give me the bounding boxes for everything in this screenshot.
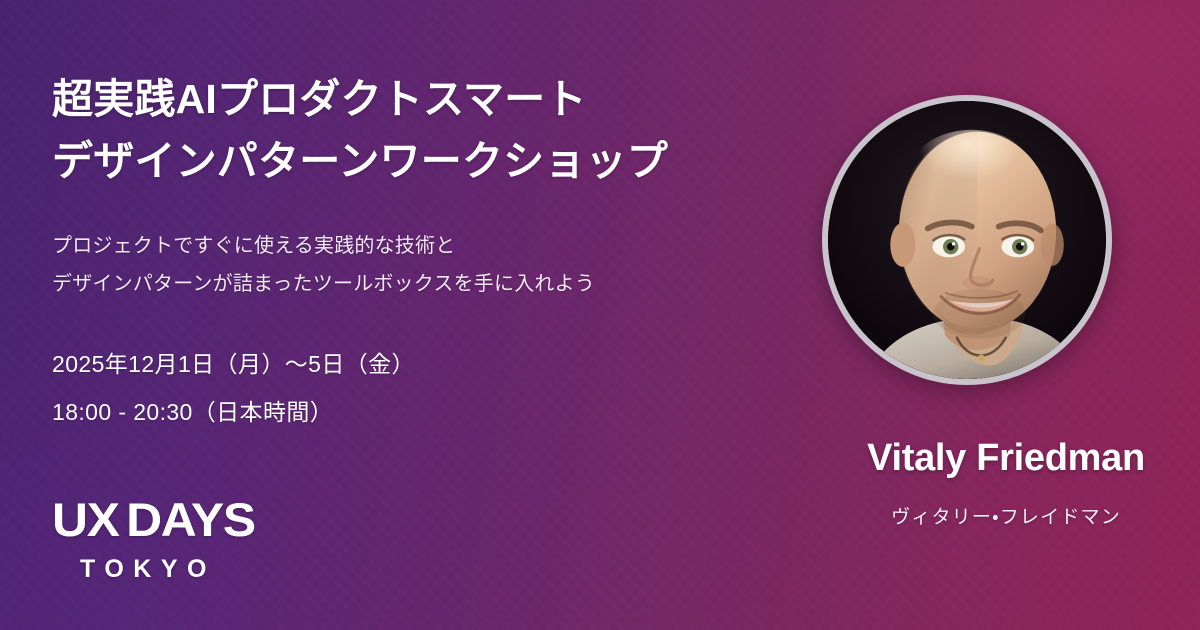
page-title: 超実践AIプロダクトスマート デザインパターンワークショップ: [52, 68, 792, 193]
event-banner: 超実践AIプロダクトスマート デザインパターンワークショップ プロジェクトですぐ…: [0, 0, 1200, 630]
logo-wordmark: UXDAYS: [52, 496, 328, 543]
event-date: 2025年12月1日（月）〜5日（金）: [52, 340, 415, 388]
event-time: 18:00 - 20:30（日本時間）: [52, 388, 415, 436]
page-subtitle-line-1: プロジェクトですぐに使える実践的な技術と: [52, 228, 772, 266]
page-title-line-1: 超実践AIプロダクトスマート: [52, 68, 792, 130]
ux-days-tokyo-logo: UXDAYS TOKYO: [52, 496, 312, 582]
page-title-line-2: デザインパターンワークショップ: [52, 130, 792, 192]
speaker-name-en: Vitaly Friedman: [812, 437, 1200, 480]
banner-content-left: 超実践AIプロダクトスマート デザインパターンワークショップ プロジェクトですぐ…: [52, 0, 812, 630]
speaker-block: Vitaly Friedman ヴィタリー・フレイドマン: [812, 0, 1200, 630]
page-subtitle: プロジェクトですぐに使える実践的な技術と デザインパターンが詰まったツールボック…: [52, 228, 772, 303]
page-subtitle-line-2: デザインパターンが詰まったツールボックスを手に入れよう: [52, 266, 772, 304]
logo-subtitle-tokyo: TOKYO: [80, 557, 312, 582]
speaker-name-ja: ヴィタリー・フレイドマン: [812, 502, 1200, 529]
portrait-photo: [828, 101, 1106, 379]
logo-wordmark-days: DAYS: [126, 493, 255, 546]
logo-wordmark-ux: UX: [52, 493, 119, 546]
avatar: [822, 95, 1112, 385]
event-schedule: 2025年12月1日（月）〜5日（金） 18:00 - 20:30（日本時間）: [52, 340, 415, 437]
